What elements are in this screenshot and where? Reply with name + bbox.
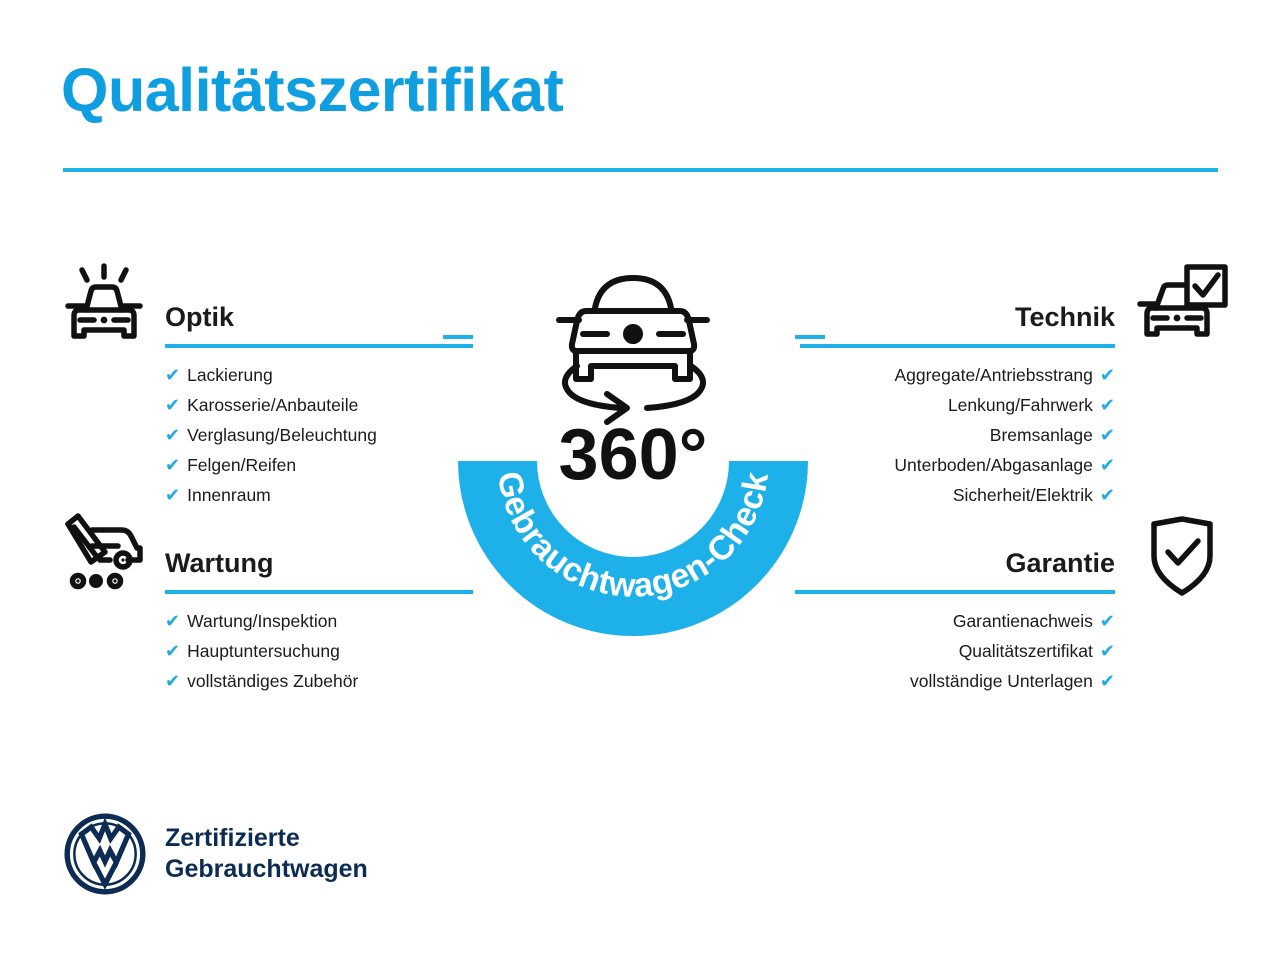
badge-tick-left-bottom (443, 590, 473, 594)
list-item-label: Karosserie/Anbauteile (187, 390, 358, 420)
list-item-label: Lackierung (187, 360, 273, 390)
section-garantie-header: Garantie (800, 546, 1115, 592)
list-item-label: Innenraum (187, 480, 271, 510)
badge-center-label: 360° (559, 415, 708, 495)
section-garantie: Garantie Garantienachweis ✔ Qualitätszer… (800, 546, 1115, 696)
car-shine-icon (58, 262, 150, 354)
list-item-label: Hauptuntersuchung (187, 636, 340, 666)
footer-logo-text: Zertifizierte Gebrauchtwagen (165, 823, 368, 885)
list-item-label: Aggregate/Antriebsstrang (894, 360, 1092, 390)
check-icon: ✔ (165, 666, 180, 696)
list-item: ✔ Verglasung/Beleuchtung (165, 420, 473, 450)
badge-tick-right-bottom (795, 590, 825, 594)
section-wartung-header: Wartung (165, 546, 473, 592)
certificate-page: Qualitätszertifikat (0, 0, 1280, 960)
badge-tick-left-top (443, 335, 473, 339)
section-wartung-list: ✔ Wartung/Inspektion ✔ Hauptuntersuchung… (165, 592, 473, 696)
vw-certified-logo: Zertifizierte Gebrauchtwagen (63, 812, 368, 896)
list-item-label: Unterboden/Abgasanlage (894, 450, 1093, 480)
badge-tick-right-top (795, 335, 825, 339)
check-icon: ✔ (165, 390, 180, 420)
section-optik-divider (165, 344, 473, 348)
check-icon: ✔ (165, 360, 180, 390)
list-item-label: Wartung/Inspektion (187, 606, 337, 636)
gebrauchtwagen-check-badge: Gebrauchtwagen-Check 360° (455, 248, 811, 640)
list-item: ✔ vollständiges Zubehör (165, 666, 473, 696)
list-item: Unterboden/Abgasanlage ✔ (800, 450, 1115, 480)
check-icon: ✔ (165, 606, 180, 636)
shield-check-icon (1146, 514, 1218, 598)
check-icon: ✔ (1100, 420, 1115, 450)
vw-logo (63, 812, 147, 896)
footer-line-2: Gebrauchtwagen (165, 854, 368, 885)
list-item: ✔ Felgen/Reifen (165, 450, 473, 480)
list-item-label: vollständiges Zubehör (187, 666, 358, 696)
section-optik-list: ✔ Lackierung ✔ Karosserie/Anbauteile ✔ V… (165, 346, 473, 510)
check-icon: ✔ (1100, 450, 1115, 480)
list-item-label: Verglasung/Beleuchtung (187, 420, 377, 450)
car-checkbox-icon (1136, 262, 1228, 354)
page-title: Qualitätszertifikat (61, 58, 563, 122)
list-item-label: vollständige Unterlagen (910, 666, 1093, 696)
list-item-label: Sicherheit/Elektrik (953, 480, 1093, 510)
list-item: ✔ Innenraum (165, 480, 473, 510)
check-icon: ✔ (1100, 360, 1115, 390)
section-optik-title: Optik (165, 300, 473, 334)
header-divider (63, 168, 1218, 172)
list-item: ✔ Karosserie/Anbauteile (165, 390, 473, 420)
section-garantie-divider (800, 590, 1115, 594)
check-icon: ✔ (1100, 390, 1115, 420)
section-technik-divider (800, 344, 1115, 348)
list-item-label: Qualitätszertifikat (959, 636, 1093, 666)
footer-line-1: Zertifizierte (165, 823, 368, 854)
section-garantie-list: Garantienachweis ✔ Qualitätszertifikat ✔… (800, 592, 1115, 696)
check-icon: ✔ (165, 636, 180, 666)
list-item-label: Bremsanlage (990, 420, 1093, 450)
list-item: Aggregate/Antriebsstrang ✔ (800, 360, 1115, 390)
section-wartung-divider (165, 590, 473, 594)
list-item-label: Garantienachweis (953, 606, 1093, 636)
section-technik-header: Technik (800, 300, 1115, 346)
list-item: Bremsanlage ✔ (800, 420, 1115, 450)
car-rotate-icon (559, 278, 707, 422)
list-item: Qualitätszertifikat ✔ (800, 636, 1115, 666)
list-item-label: Lenkung/Fahrwerk (948, 390, 1093, 420)
section-wartung-title: Wartung (165, 546, 473, 580)
list-item: Lenkung/Fahrwerk ✔ (800, 390, 1115, 420)
section-garantie-title: Garantie (800, 546, 1115, 580)
check-icon: ✔ (165, 480, 180, 510)
list-item: Garantienachweis ✔ (800, 606, 1115, 636)
check-icon: ✔ (1100, 606, 1115, 636)
list-item: ✔ Hauptuntersuchung (165, 636, 473, 666)
section-optik: Optik ✔ Lackierung ✔ Karosserie/Anbautei… (165, 300, 473, 510)
section-technik: Technik Aggregate/Antriebsstrang ✔ Lenku… (800, 300, 1115, 510)
list-item: Sicherheit/Elektrik ✔ (800, 480, 1115, 510)
check-icon: ✔ (165, 450, 180, 480)
list-item-label: Felgen/Reifen (187, 450, 296, 480)
check-icon: ✔ (165, 420, 180, 450)
list-item: ✔ Lackierung (165, 360, 473, 390)
check-icon: ✔ (1100, 636, 1115, 666)
section-optik-header: Optik (165, 300, 473, 346)
section-technik-title: Technik (800, 300, 1115, 334)
check-icon: ✔ (1100, 666, 1115, 696)
list-item: ✔ Wartung/Inspektion (165, 606, 473, 636)
pen-car-service-icon (58, 510, 150, 602)
section-technik-list: Aggregate/Antriebsstrang ✔ Lenkung/Fahrw… (800, 346, 1115, 510)
check-icon: ✔ (1100, 480, 1115, 510)
section-wartung: Wartung ✔ Wartung/Inspektion ✔ Hauptunte… (165, 546, 473, 696)
list-item: vollständige Unterlagen ✔ (800, 666, 1115, 696)
